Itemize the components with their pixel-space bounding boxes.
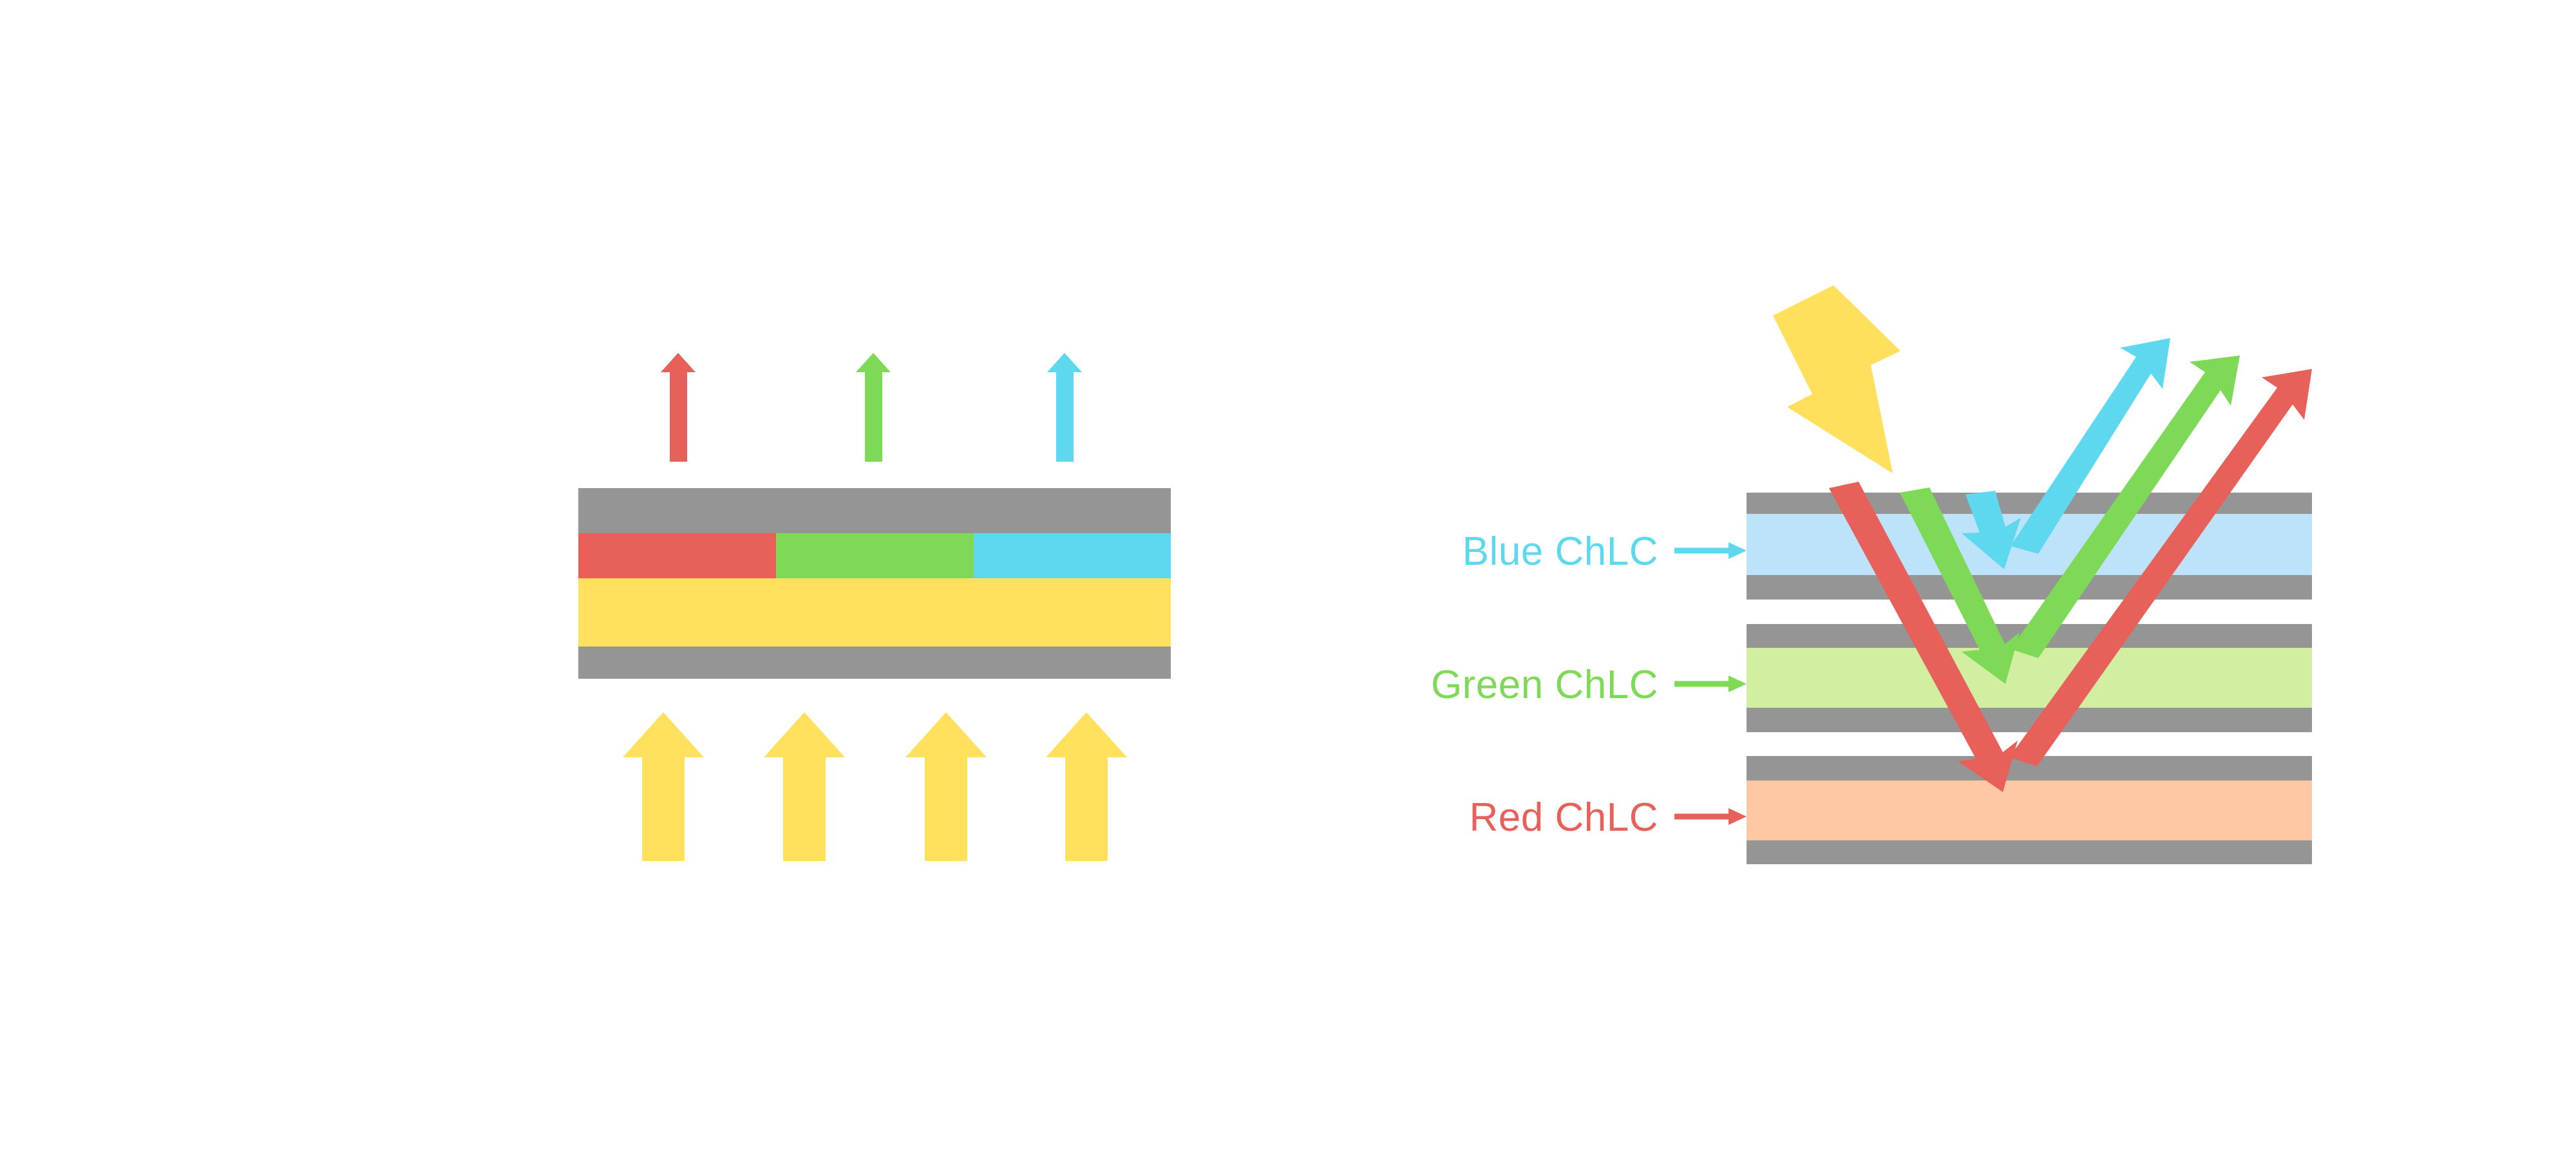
red-ray-path <box>1829 369 2312 792</box>
backlight-arrow-icon-1 <box>623 712 704 861</box>
red-emission-arrow-icon <box>661 353 696 462</box>
layer-bottom-electrode <box>578 647 1171 679</box>
layer-red-filter <box>578 533 776 578</box>
green-ray-out-icon <box>2011 355 2240 658</box>
figure-canvas: Blue ChLC Green ChLC Red ChLC <box>0 0 2576 1154</box>
green-ray-path <box>1900 355 2240 684</box>
left-stack <box>578 488 1171 679</box>
label-leader-arrows <box>1674 542 1747 825</box>
layer-top-electrode <box>578 488 1171 533</box>
substrate-green-bottom <box>1747 708 2312 732</box>
right-stack <box>1747 493 2312 864</box>
backlight-arrow-icon-3 <box>905 712 987 861</box>
green-chlc-label: Green ChLC <box>1431 663 1658 707</box>
red-ray-out-icon <box>2009 369 2312 766</box>
green-ray-in-icon <box>1900 487 2020 684</box>
backlight-arrow-icon-4 <box>1046 712 1127 861</box>
substrate-blue-bottom <box>1747 575 2312 600</box>
blue-emission-arrow-icon <box>1047 353 1082 462</box>
blue-ray-path <box>1962 338 2170 569</box>
incident-light-arrow-icon <box>1773 285 1900 473</box>
blue-ray-in-icon <box>1962 491 2021 569</box>
emitted-light-arrows <box>661 353 1082 462</box>
substrate-green-top <box>1747 624 2312 648</box>
chlc-layer-blue <box>1747 514 2312 575</box>
layer-backlight <box>578 578 1171 647</box>
chlc-layer-red <box>1747 780 2312 840</box>
layer-blue-filter <box>974 533 1171 578</box>
red-chlc-label: Red ChLC <box>1470 795 1658 840</box>
green-label-arrow-icon <box>1674 676 1747 692</box>
backlight-arrows <box>623 712 1127 861</box>
red-ray-in-icon <box>1829 482 2018 792</box>
chlc-layer-green <box>1747 648 2312 708</box>
left-panel-emissive-stack <box>0 0 2576 1154</box>
blue-label-arrow-icon <box>1674 542 1747 559</box>
substrate-red-top <box>1747 756 2312 780</box>
substrate-red-bottom <box>1747 840 2312 864</box>
layer-green-filter <box>776 533 974 578</box>
red-label-arrow-icon <box>1674 808 1747 825</box>
blue-chlc-label: Blue ChLC <box>1463 529 1658 574</box>
substrate-blue-top <box>1747 493 2312 514</box>
backlight-arrow-icon-2 <box>764 712 845 861</box>
right-panel-chlc-stack: Blue ChLC Green ChLC Red ChLC <box>0 0 2576 1154</box>
green-emission-arrow-icon <box>856 353 891 462</box>
blue-ray-out-icon <box>2011 338 2170 554</box>
